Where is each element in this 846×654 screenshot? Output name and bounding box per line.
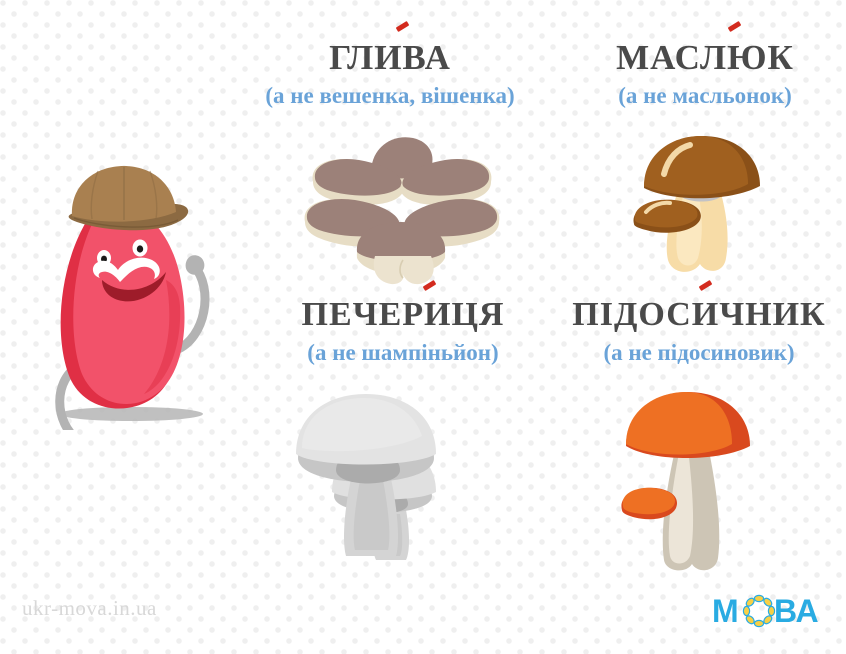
entry-glyva-title: ГЛИВА bbox=[329, 40, 451, 75]
entry-maslyuk-subtitle: (а не масльонок) bbox=[575, 84, 835, 107]
butter-mushroom-illustration bbox=[620, 132, 800, 282]
entry-pecherycia-subtitle: (а не шампіньйон) bbox=[258, 341, 548, 364]
entry-pidosychnyk-text: ПІДОСИЧНИК (а не підосиновик) bbox=[552, 298, 846, 364]
entry-maslyuk-text: МАСЛЮК (а не масльонок) bbox=[575, 40, 835, 107]
champignon-big bbox=[296, 394, 436, 556]
entry-glyva-subtitle: (а не вешенка, вішенка) bbox=[225, 84, 555, 107]
butter-cap bbox=[644, 136, 760, 198]
entry-maslyuk-title-text: МАСЛЮК bbox=[616, 38, 794, 77]
entry-pidosychnyk-title: ПІДОСИЧНИК bbox=[572, 298, 825, 332]
logo-text-left: М bbox=[712, 592, 739, 630]
mascot-pupil-right bbox=[137, 245, 143, 252]
boletus-small-cap bbox=[621, 488, 677, 520]
butter-small-cap bbox=[633, 200, 700, 233]
stress-accent-mark bbox=[728, 21, 742, 32]
stress-accent-mark bbox=[396, 21, 410, 32]
mascot-body bbox=[73, 206, 184, 404]
champignon-big-stem-inner bbox=[354, 480, 390, 550]
champignon-illustration bbox=[292, 392, 514, 582]
wreath-petals bbox=[743, 595, 774, 626]
entry-glyva-title-text: ГЛИВА bbox=[329, 38, 451, 77]
entry-glyva-text: ГЛИВА (а не вешенка, вішенка) bbox=[225, 40, 555, 107]
mascot-illustration bbox=[28, 160, 238, 430]
entry-pecherycia-title: ПЕЧЕРИЦЯ bbox=[302, 298, 505, 332]
boletus-cap bbox=[626, 392, 750, 458]
oyster-mushroom-illustration bbox=[295, 130, 510, 285]
oyster-cluster bbox=[305, 137, 500, 284]
wreath-icon bbox=[742, 594, 776, 628]
boletus-illustration bbox=[608, 388, 793, 578]
oyster-base bbox=[374, 256, 434, 284]
mascot-ground-shadow bbox=[59, 407, 203, 421]
mova-logo[interactable]: М ВА bbox=[712, 588, 824, 634]
mascot-right-hand bbox=[186, 255, 205, 274]
entry-pidosychnyk-title-text: ПІДОСИЧНИК bbox=[572, 296, 825, 333]
entry-pidosychnyk-subtitle: (а не підосиновик) bbox=[552, 341, 846, 364]
entry-pecherycia-title-text: ПЕЧЕРИЦЯ bbox=[302, 296, 505, 333]
entry-maslyuk-title: МАСЛЮК bbox=[616, 40, 794, 75]
site-url-label: ukr-mova.in.ua bbox=[22, 596, 157, 621]
poster-canvas: ГЛИВА (а не вешенка, вішенка) МАСЛЮК (а … bbox=[0, 0, 846, 654]
logo-text-right: ВА bbox=[774, 592, 819, 630]
entry-pecherycia-text: ПЕЧЕРИЦЯ (а не шампіньйон) bbox=[258, 298, 548, 364]
